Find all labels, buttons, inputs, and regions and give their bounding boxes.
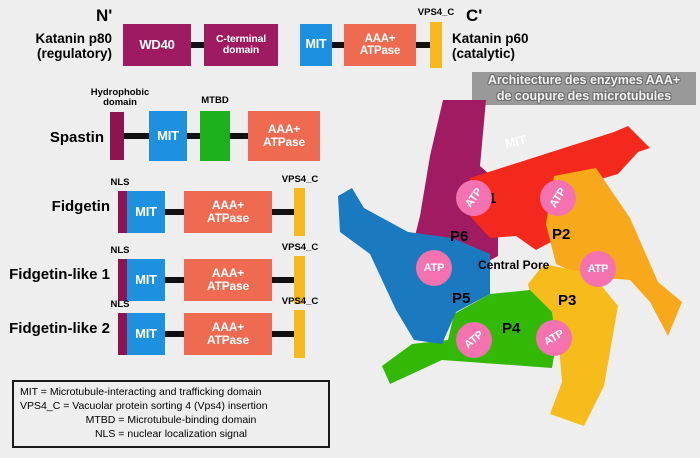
domain-aaa-fl2-line2: ATPase [207, 334, 249, 347]
domain-wd40[interactable]: WD40 [123, 24, 191, 66]
domain-aaa-fidgetin-like-1[interactable]: AAA+ ATPase [184, 259, 272, 301]
tag-nls-fidgetin: NLS [100, 178, 140, 188]
katanin-p80-line1: Katanin p80 [0, 31, 112, 46]
protein-label-fidgetin: Fidgetin [0, 199, 110, 216]
tag-vps4c-p60: VPS4_C [404, 8, 468, 18]
protein-label-katanin-p60: Katanin p60 (catalytic) [452, 31, 592, 61]
mit-arm-label: MIT [504, 133, 528, 151]
domain-aaa-fl1-line2: ATPase [207, 280, 249, 293]
caption-line-1: Architecture des enzymes AAA+ [474, 73, 694, 89]
domain-wd40-label: WD40 [139, 38, 174, 52]
hexamer-svg: MIT [330, 96, 700, 458]
protein-label-fidgetin-like-1: Fidgetin-like 1 [0, 267, 110, 284]
katanin-p60-line1: Katanin p60 [452, 31, 592, 46]
linker-fl2-1 [165, 331, 184, 337]
linker-fidgetin-2 [272, 209, 294, 215]
domain-nls-fidgetin[interactable] [118, 191, 127, 233]
subunit-label-p3: P3 [558, 292, 576, 309]
tag-mtbd: MTBD [188, 96, 242, 106]
domain-nls-fidgetin-like-2[interactable] [118, 313, 127, 355]
linker-spastin-2 [187, 133, 200, 139]
subunit-label-p4: P4 [502, 320, 520, 337]
domain-aaa-p60-line1: AAA+ [365, 33, 396, 45]
domain-mit-fidgetin-label: MIT [135, 205, 157, 219]
tag-vps4c-fidgetin-like-1: VPS4_C [268, 243, 332, 253]
domain-mit-fidgetin[interactable]: MIT [127, 191, 165, 233]
domain-mtbd[interactable] [200, 111, 230, 161]
protein-label-spastin: Spastin [0, 130, 104, 147]
legend-line-mtbd: MTBD = Microtubule-binding domain [14, 414, 328, 428]
figure-canvas: N' C' Katanin p80 (regulatory) WD40 C-te… [0, 0, 700, 458]
central-pore-label: Central Pore [478, 258, 549, 272]
linker-p80-1 [191, 42, 204, 48]
linker-fl1-2 [272, 277, 294, 283]
c-terminus-label: C' [466, 6, 482, 26]
linker-spastin-1 [124, 133, 149, 139]
domain-cterm-line2: domain [223, 45, 259, 56]
linker-p60-1 [332, 42, 344, 48]
tag-vps4c-fidgetin: VPS4_C [268, 175, 332, 185]
tag-hydrophobic-line2: domain [78, 98, 162, 108]
domain-aaa-spastin-line2: ATPase [263, 136, 305, 149]
tag-nls-fidgetin-like-2: NLS [100, 300, 140, 310]
tag-hydrophobic-domain: Hydrophobic domain [78, 88, 162, 109]
domain-mit-spastin-label: MIT [157, 129, 179, 143]
domain-aaa-p60-line2: ATPase [360, 45, 400, 57]
subunit-label-p2: P2 [552, 226, 570, 243]
domain-mit-fidgetin-like-1[interactable]: MIT [127, 259, 165, 301]
legend-line-nls: NLS = nuclear localization signal [14, 428, 328, 442]
domain-hydrophobic[interactable] [110, 112, 124, 160]
atp-site-3[interactable]: ATP [580, 251, 616, 287]
linker-p60-2 [416, 42, 430, 48]
domain-nls-fidgetin-like-1[interactable] [118, 259, 127, 301]
tag-nls-fidgetin-like-1: NLS [100, 246, 140, 256]
legend-box: MIT = Microtubule-interacting and traffi… [12, 380, 330, 448]
domain-mit-fl1-label: MIT [135, 273, 157, 287]
domain-aaa-fidgetin-line2: ATPase [207, 212, 249, 225]
domain-c-terminal[interactable]: C-terminal domain [204, 24, 278, 66]
protein-label-katanin-p80: Katanin p80 (regulatory) [0, 31, 112, 61]
domain-aaa-p60[interactable]: AAA+ ATPase [344, 24, 416, 66]
linker-fl1-1 [165, 277, 184, 283]
katanin-p60-line2: (catalytic) [452, 46, 592, 61]
tag-vps4c-fidgetin-like-2: VPS4_C [268, 297, 332, 307]
domain-aaa-fidgetin[interactable]: AAA+ ATPase [184, 191, 272, 233]
domain-vps4c-fidgetin-like-2[interactable] [294, 310, 305, 358]
domain-mit-p60-label: MIT [306, 38, 327, 51]
legend-line-mit: MIT = Microtubule-interacting and traffi… [14, 386, 328, 400]
domain-mit-spastin[interactable]: MIT [149, 111, 187, 161]
domain-aaa-spastin[interactable]: AAA+ ATPase [248, 111, 320, 161]
domain-vps4c-fidgetin[interactable] [294, 188, 305, 236]
domain-mit-p60[interactable]: MIT [300, 24, 332, 66]
linker-fidgetin-1 [165, 209, 184, 215]
linker-spastin-3 [230, 133, 248, 139]
domain-mit-fl2-label: MIT [135, 327, 157, 341]
katanin-p80-line2: (regulatory) [0, 46, 112, 61]
linker-fl2-2 [272, 331, 294, 337]
domain-vps4c-p60[interactable] [430, 22, 442, 68]
protein-label-fidgetin-like-2: Fidgetin-like 2 [0, 321, 110, 338]
subunit-label-p6: P6 [450, 228, 468, 245]
hexamer-diagram: MIT P1 P2 P3 P4 P5 P6 Central Pore ATP A… [330, 96, 700, 458]
domain-mit-fidgetin-like-2[interactable]: MIT [127, 313, 165, 355]
atp-site-6[interactable]: ATP [416, 250, 452, 286]
domain-aaa-fidgetin-like-2[interactable]: AAA+ ATPase [184, 313, 272, 355]
n-terminus-label: N' [96, 6, 112, 26]
legend-line-vps4c: VPS4_C = Vacuolar protein sorting 4 (Vps… [14, 400, 328, 414]
subunit-label-p5: P5 [452, 290, 470, 307]
